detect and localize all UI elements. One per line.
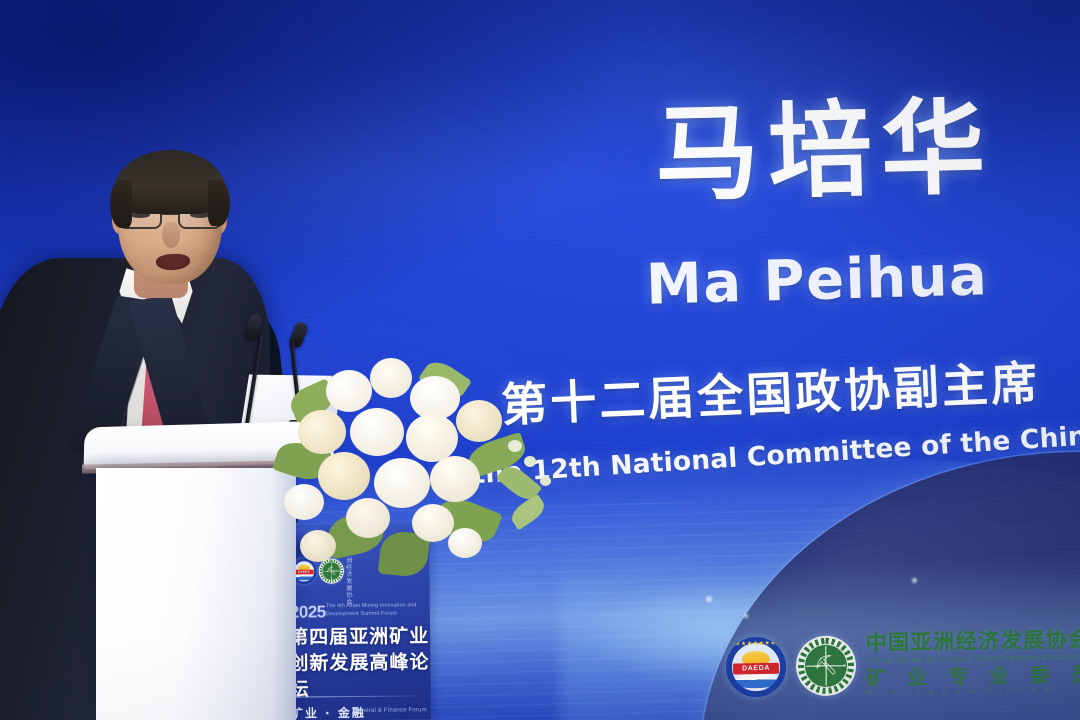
rose-bloom [406, 414, 458, 462]
rose-bloom [412, 504, 454, 542]
rose-bloom [346, 498, 390, 538]
rose-bloom-cream [318, 452, 370, 500]
speaker-name-chinese: 马培华 [654, 92, 995, 210]
rose-bloom [448, 528, 482, 558]
sponsor-text: 中国亚洲经济发展协会 China Asian Economic Developm… [865, 628, 1080, 698]
spray-bud [540, 476, 551, 486]
daeda-logo-icon: DAEDA ★★★★★★★ [726, 637, 787, 698]
rose-bloom [326, 370, 372, 412]
rose-bloom [350, 408, 404, 456]
sponsor-lockup: DAEDA ★★★★★★★ ⛏ 中国亚洲经济发展协会 China Asian E… [725, 628, 1080, 700]
lectern-body [96, 468, 296, 720]
hair-side-right [208, 180, 230, 226]
sign-footer-english: Mineral & Finance Forum [355, 707, 427, 714]
rose-bloom [374, 458, 430, 508]
foliage [507, 494, 548, 531]
rose-bloom-cream [300, 530, 336, 562]
conference-photo: 马培华 Ma Peihua 第十二届全国政协副主席 of the 12th Na… [0, 0, 1080, 720]
hair-side-left [110, 180, 132, 228]
flower-arrangement [272, 352, 572, 582]
mining-committee-logo-icon: ⛏ [795, 636, 856, 697]
speaker-name-english: Ma Peihua [645, 243, 989, 318]
spray-bud [524, 456, 536, 467]
star-arc: ★★★★★★★ [726, 641, 786, 648]
rose-bloom-cream [298, 410, 346, 454]
speaker-title-chinese: 第十二届全国政协副主席 [500, 347, 1041, 436]
rose-bloom [284, 484, 324, 520]
rose-bloom [430, 456, 480, 502]
spray-bud [508, 440, 522, 452]
pickaxe-icon: ⛏ [814, 657, 838, 676]
sign-subtitle-english: The 4th Asian Mining Innovation and Deve… [326, 601, 424, 618]
rose-bloom-cream [456, 400, 502, 442]
rose-bloom [370, 358, 412, 398]
